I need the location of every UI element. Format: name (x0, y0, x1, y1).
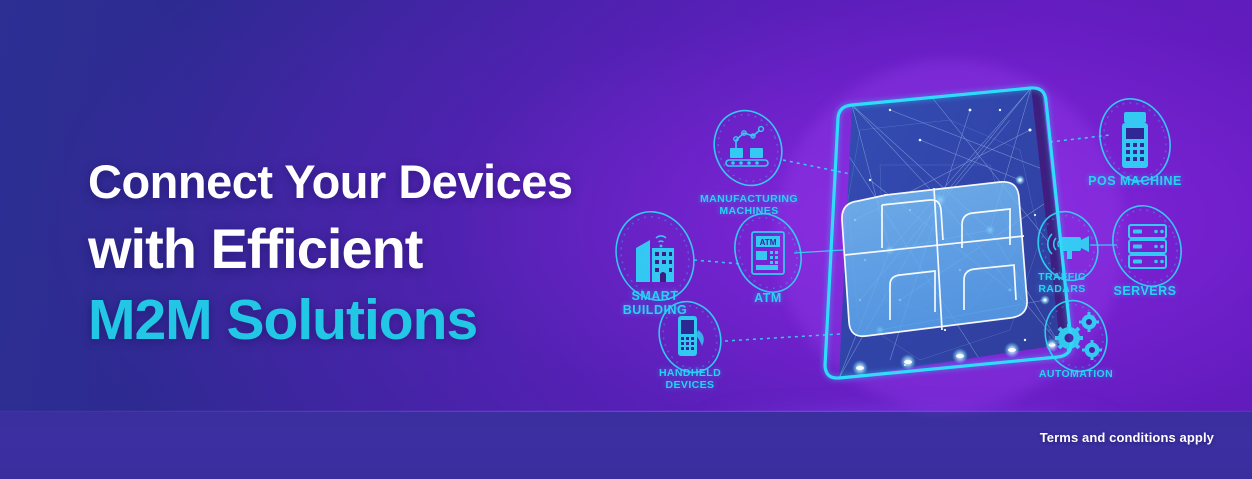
headline-line-3: M2M Solutions (88, 284, 573, 356)
sim-chip (842, 182, 1027, 336)
headline-line-2: with Efficient (88, 214, 573, 284)
smart-building-icon (636, 236, 674, 282)
node-label-servers: SERVERS (1095, 284, 1195, 298)
node-manufacturing-machines[interactable] (703, 100, 793, 195)
node-label-handheld-devices: HANDHELD DEVICES (635, 367, 745, 391)
server-rack-icon (1129, 225, 1166, 268)
node-ring-inner-manufacturing (708, 106, 787, 191)
m2m-promo-banner: Connect Your Devices with Efficient M2M … (0, 0, 1252, 479)
headline-block: Connect Your Devices with Efficient M2M … (88, 150, 573, 356)
node-label-pos-machine: POS MACHINE (1067, 174, 1203, 188)
node-label-smart-building: SMART BUILDING (600, 289, 710, 317)
connector-smartbuilding-atm (694, 260, 742, 264)
sim-card-network-illustration: ATM (590, 0, 1252, 479)
node-label-atm: ATM (726, 291, 810, 305)
svg-text:ATM: ATM (760, 238, 777, 247)
handheld-phone-icon (678, 316, 704, 356)
node-label-manufacturing-machines: MANUFACTURING MACHINES (694, 193, 804, 217)
pos-terminal-icon (1122, 112, 1148, 168)
headline-line-1: Connect Your Devices (88, 150, 573, 214)
robot-arm-conveyor-icon (726, 127, 768, 166)
node-label-automation: AUTOMATION (1021, 368, 1131, 380)
sim-card (825, 88, 1071, 378)
